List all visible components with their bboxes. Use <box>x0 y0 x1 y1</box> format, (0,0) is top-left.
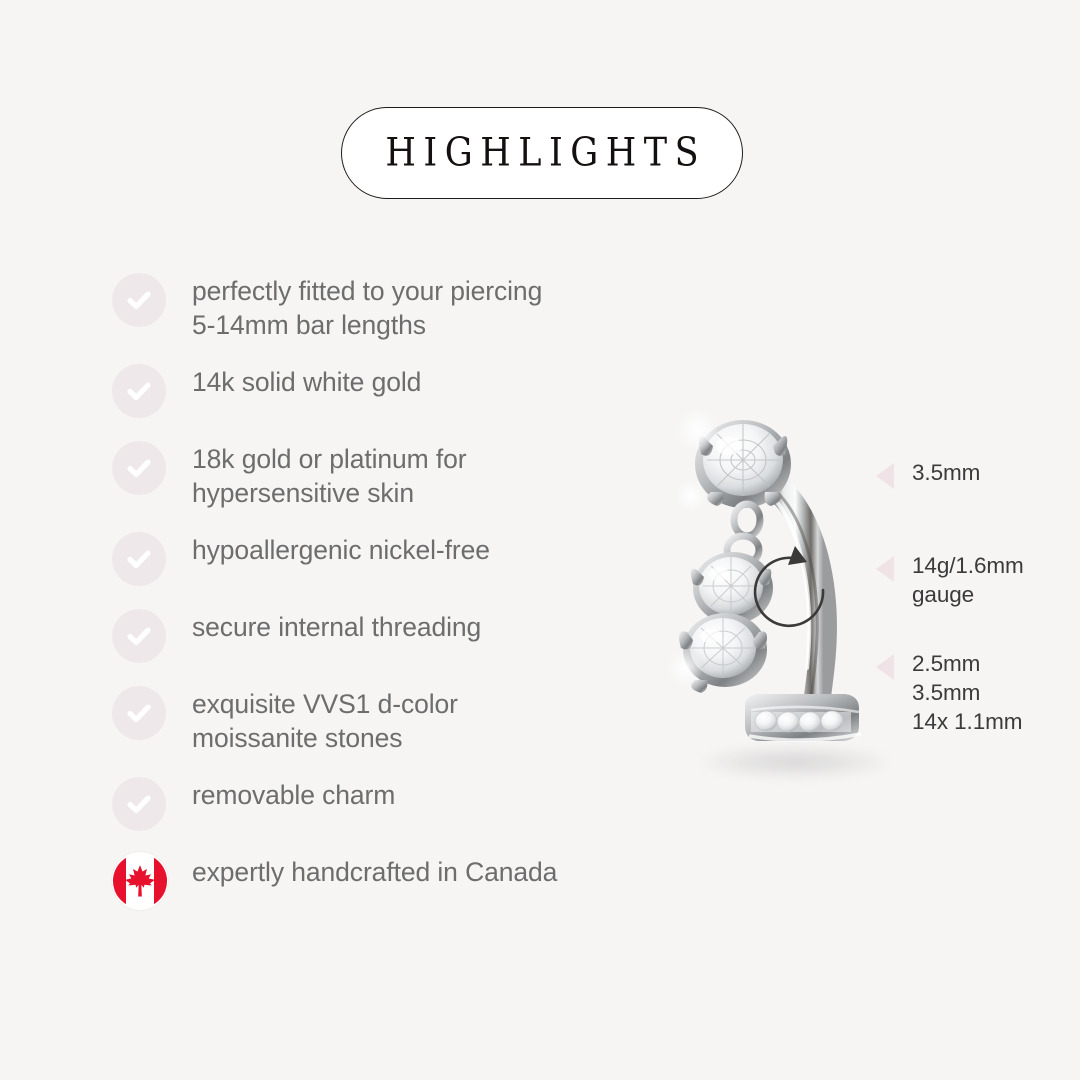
list-item: 14k solid white gold <box>112 363 632 419</box>
canada-flag-icon <box>112 852 168 910</box>
check-circle-icon <box>112 441 166 495</box>
list-item-label: 18k gold or platinum for hypersensitive … <box>168 440 632 510</box>
list-item: exquisite VVS1 d-color moissanite stones <box>112 685 632 755</box>
check-icon-wrap <box>112 685 168 741</box>
middle-gem <box>691 552 773 624</box>
annotation-gauge: 14g/1.6mm gauge <box>876 551 1024 609</box>
annotation-marker-triangle-icon <box>876 463 894 489</box>
check-circle-icon <box>112 686 166 740</box>
check-icon-wrap <box>112 272 168 328</box>
check-circle-icon <box>112 273 166 327</box>
highlights-list: perfectly fitted to your piercing 5-14mm… <box>112 272 632 909</box>
list-item: 18k gold or platinum for hypersensitive … <box>112 440 632 510</box>
list-item-label: exquisite VVS1 d-color moissanite stones <box>168 685 632 755</box>
highlights-infographic: HIGHLIGHTS perfectly fitted to your pier… <box>0 0 1080 1080</box>
annotation-label: 3.5mm <box>894 458 980 487</box>
check-icon-wrap <box>112 608 168 664</box>
annotation-top-gem: 3.5mm <box>876 458 980 489</box>
list-item-label: secure internal threading <box>168 608 632 644</box>
highlights-title-badge: HIGHLIGHTS <box>341 107 743 199</box>
page-title: HIGHLIGHTS <box>378 133 706 172</box>
flag-icon-wrap <box>112 853 168 909</box>
list-item-label: 14k solid white gold <box>168 363 632 399</box>
pave-band <box>745 694 861 741</box>
list-item: secure internal threading <box>112 608 632 664</box>
annotation-stone-sizes: 2.5mm 3.5mm 14x 1.1mm <box>876 649 1022 736</box>
list-item-label: removable charm <box>168 776 632 812</box>
list-item-label: hypoallergenic nickel-free <box>168 531 632 567</box>
check-circle-icon <box>112 777 166 831</box>
list-item-label: perfectly fitted to your piercing 5-14mm… <box>168 272 632 342</box>
check-circle-icon <box>112 364 166 418</box>
list-item-label: expertly handcrafted in Canada <box>168 853 632 889</box>
annotation-label: 14g/1.6mm gauge <box>894 551 1024 609</box>
check-icon-wrap <box>112 776 168 832</box>
list-item: removable charm <box>112 776 632 832</box>
list-item: hypoallergenic nickel-free <box>112 531 632 587</box>
annotation-marker-triangle-icon <box>876 556 894 582</box>
check-icon-wrap <box>112 440 168 496</box>
list-item: perfectly fitted to your piercing 5-14mm… <box>112 272 632 342</box>
check-icon-wrap <box>112 531 168 587</box>
check-circle-icon <box>112 609 166 663</box>
check-circle-icon <box>112 532 166 586</box>
list-item: expertly handcrafted in Canada <box>112 853 632 909</box>
annotation-marker-triangle-icon <box>876 654 894 680</box>
annotation-label: 2.5mm 3.5mm 14x 1.1mm <box>894 649 1022 736</box>
check-icon-wrap <box>112 363 168 419</box>
